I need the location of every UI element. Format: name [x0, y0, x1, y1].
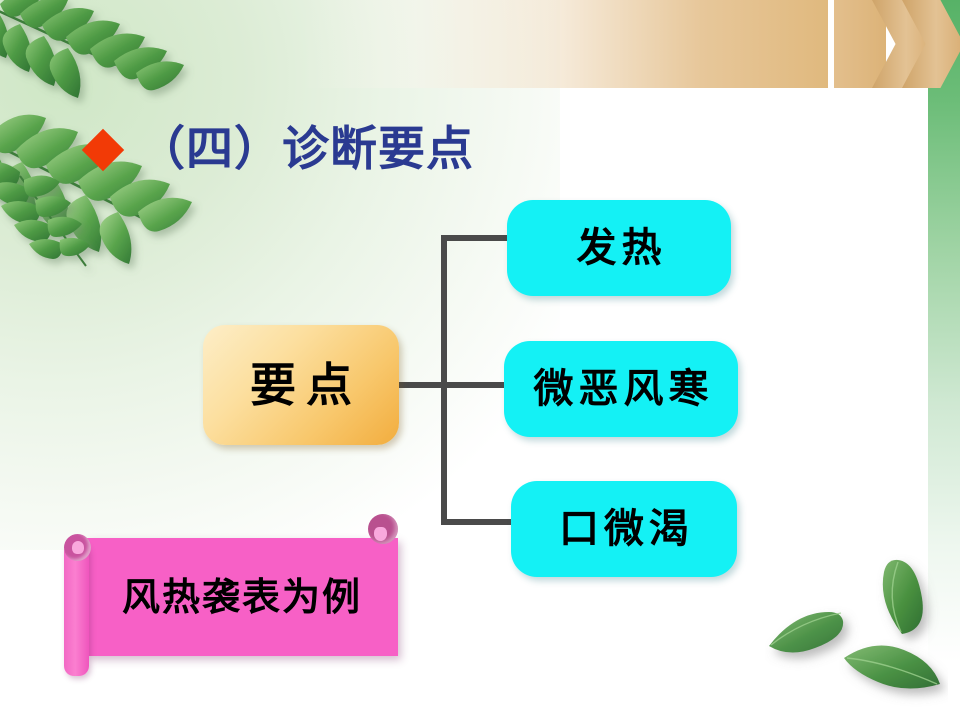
background-right-green-strip [928, 0, 960, 720]
diagram-node-branch-3[interactable]: 口微渴 [511, 481, 737, 577]
leaf-icon [765, 596, 875, 676]
leaf-icon [838, 634, 948, 714]
page-title-text: （四）诊断要点 [138, 126, 474, 173]
red-diamond-bullet-icon [82, 128, 124, 170]
example-scroll-banner[interactable]: 风热袭表为例 [58, 508, 403, 678]
leaf-icon [856, 546, 946, 656]
connector-branch-1 [441, 235, 511, 241]
scroll-banner-label: 风热袭表为例 [86, 538, 398, 656]
slide-canvas: （四）诊断要点 要点 发热 微恶风寒 口微渴 风热袭表为例 [0, 0, 960, 720]
connector-branch-2 [441, 382, 509, 388]
page-title: （四）诊断要点 [88, 126, 474, 173]
diagram-node-branch-2[interactable]: 微恶风寒 [504, 341, 738, 437]
top-banner-gap [828, 0, 834, 88]
diagram-node-root[interactable]: 要点 [203, 325, 399, 445]
diagram-node-branch-1[interactable]: 发热 [507, 200, 731, 296]
top-banner-strip [300, 0, 828, 88]
chevron-block-decor [834, 0, 886, 88]
chevron-arrow-icon [872, 0, 934, 88]
connector-branch-3 [441, 519, 515, 525]
connector-spine [441, 235, 447, 525]
scroll-left-curl-highlight [72, 541, 84, 554]
background-green-glow [0, 0, 560, 550]
connector-stem [399, 382, 447, 388]
chevron-arrow-icon [902, 0, 960, 88]
